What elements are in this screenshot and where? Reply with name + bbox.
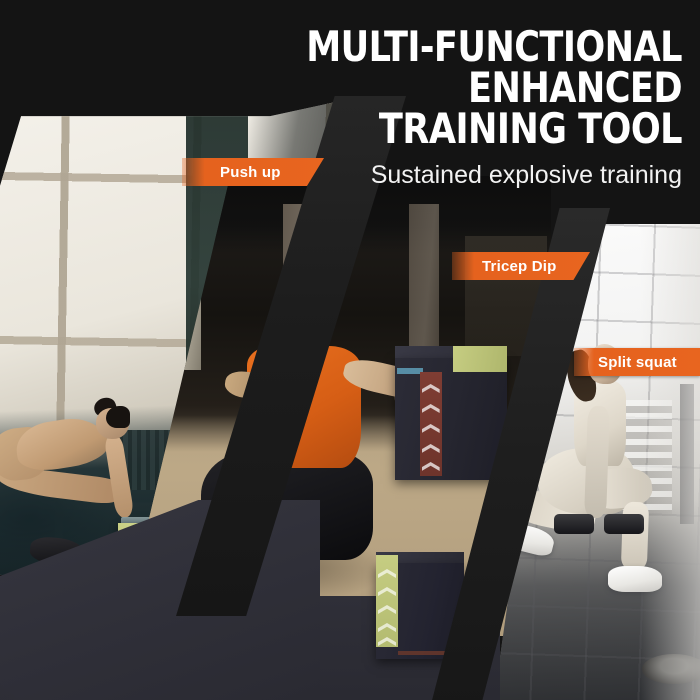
chevron-up-icon (378, 587, 396, 596)
exercise-tag-push-up-label: Push up (220, 164, 281, 181)
chevron-up-icon (378, 605, 396, 614)
chevron-up-icon (422, 424, 440, 433)
chevron-up-icon (378, 569, 396, 578)
chevron-up-icon (422, 384, 440, 393)
exercise-tag-split-squat: Split squat (574, 348, 700, 376)
chevron-up-icon (378, 637, 396, 646)
plyo-box-bottom (376, 563, 464, 659)
dumbbell-right (604, 514, 644, 534)
dumbbell-left (554, 514, 594, 534)
athlete-arm (584, 406, 610, 519)
exercise-tag-split-squat-label: Split squat (598, 354, 677, 371)
plyo-box-middle-top-strip (453, 346, 507, 372)
athlete-hair (106, 406, 130, 428)
athlete-arm (104, 433, 135, 519)
chevron-up-icon (422, 444, 440, 453)
chevron-up-icon (422, 404, 440, 413)
exercise-tag-tricep-dip-label: Tricep Dip (482, 258, 557, 275)
exercise-tag-tricep-dip: Tricep Dip (452, 252, 590, 280)
plyo-box-middle-red-strip (420, 372, 442, 476)
plyo-box-middle (395, 358, 507, 480)
chevron-up-icon (422, 462, 440, 471)
athlete-head (277, 300, 321, 350)
exercise-tag-push-up: Push up (182, 158, 324, 186)
athlete-tank-top (247, 346, 361, 468)
plyo-box-bottom-red-line (398, 651, 464, 655)
light-haze-overlay (640, 224, 700, 700)
plyo-box-bottom-green-strip (376, 555, 398, 647)
chevron-up-icon (378, 623, 396, 632)
poster-canvas: Push up Tricep Dip Split squat MULTI-FUN… (0, 0, 700, 700)
plyo-box-middle-front-face (395, 358, 507, 480)
